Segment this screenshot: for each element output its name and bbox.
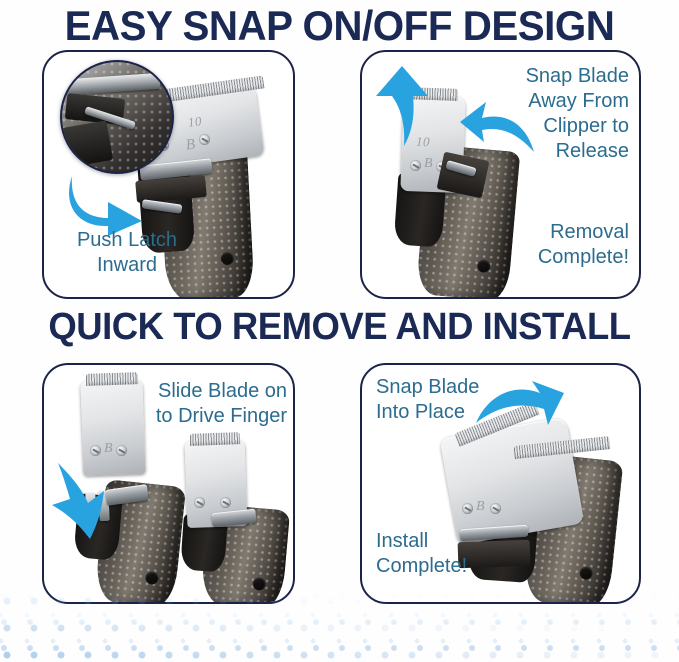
inset-shadow xyxy=(61,120,113,167)
blade-screw-right xyxy=(199,134,210,145)
panel-snap-blade-into-place: B Snap Blade Into Place Install Complete… xyxy=(360,363,641,604)
panel-push-latch-inward: 10 B Push Latch Inward xyxy=(42,50,295,299)
caption-slide-blade-on: Slide Blade on to Drive Finger xyxy=(127,379,287,429)
blade-screw-left xyxy=(410,160,421,171)
blade-brand-mark: B xyxy=(476,499,485,515)
blade-screw-left-a xyxy=(90,445,101,456)
blade-screw-right-a xyxy=(194,497,205,508)
heading-top: EASY SNAP ON/OFF DESIGN xyxy=(14,2,666,50)
blade-screw-left-b xyxy=(116,445,127,456)
panel-snap-blade-away: 10 B Snap Blade Away From Clipper to Rel… xyxy=(360,50,641,299)
blade-teeth-right xyxy=(190,432,240,446)
caption-removal-complete: Removal Complete! xyxy=(459,220,629,270)
blade-logo-number: 10 xyxy=(187,113,203,131)
caption-snap-blade-into-place: Snap Blade Into Place xyxy=(376,375,516,425)
curved-arrow-right-icon xyxy=(64,170,148,236)
blade-brand-mark: B xyxy=(424,156,433,172)
arrow-up-icon xyxy=(374,66,430,146)
blade-brand-mark-left: B xyxy=(104,441,113,457)
caption-push-latch-inward: Push Latch Inward xyxy=(52,228,202,278)
heading-middle: QUICK TO REMOVE AND INSTALL xyxy=(14,306,666,349)
blade-screw-right xyxy=(490,503,501,514)
closeup-inset-latch xyxy=(60,60,174,174)
arrow-down-left-icon xyxy=(52,461,118,541)
blade-screw-left xyxy=(462,503,473,514)
blade-screw-right-b xyxy=(220,497,231,508)
panel-slide-blade-on: B Slide Blade on to Drive Finger xyxy=(42,363,295,604)
caption-install-complete: Install Complete! xyxy=(376,529,526,579)
infographic-page: EASY SNAP ON/OFF DESIGN QUICK TO REMOVE … xyxy=(0,0,679,662)
caption-snap-blade-away: Snap Blade Away From Clipper to Release xyxy=(459,64,629,164)
